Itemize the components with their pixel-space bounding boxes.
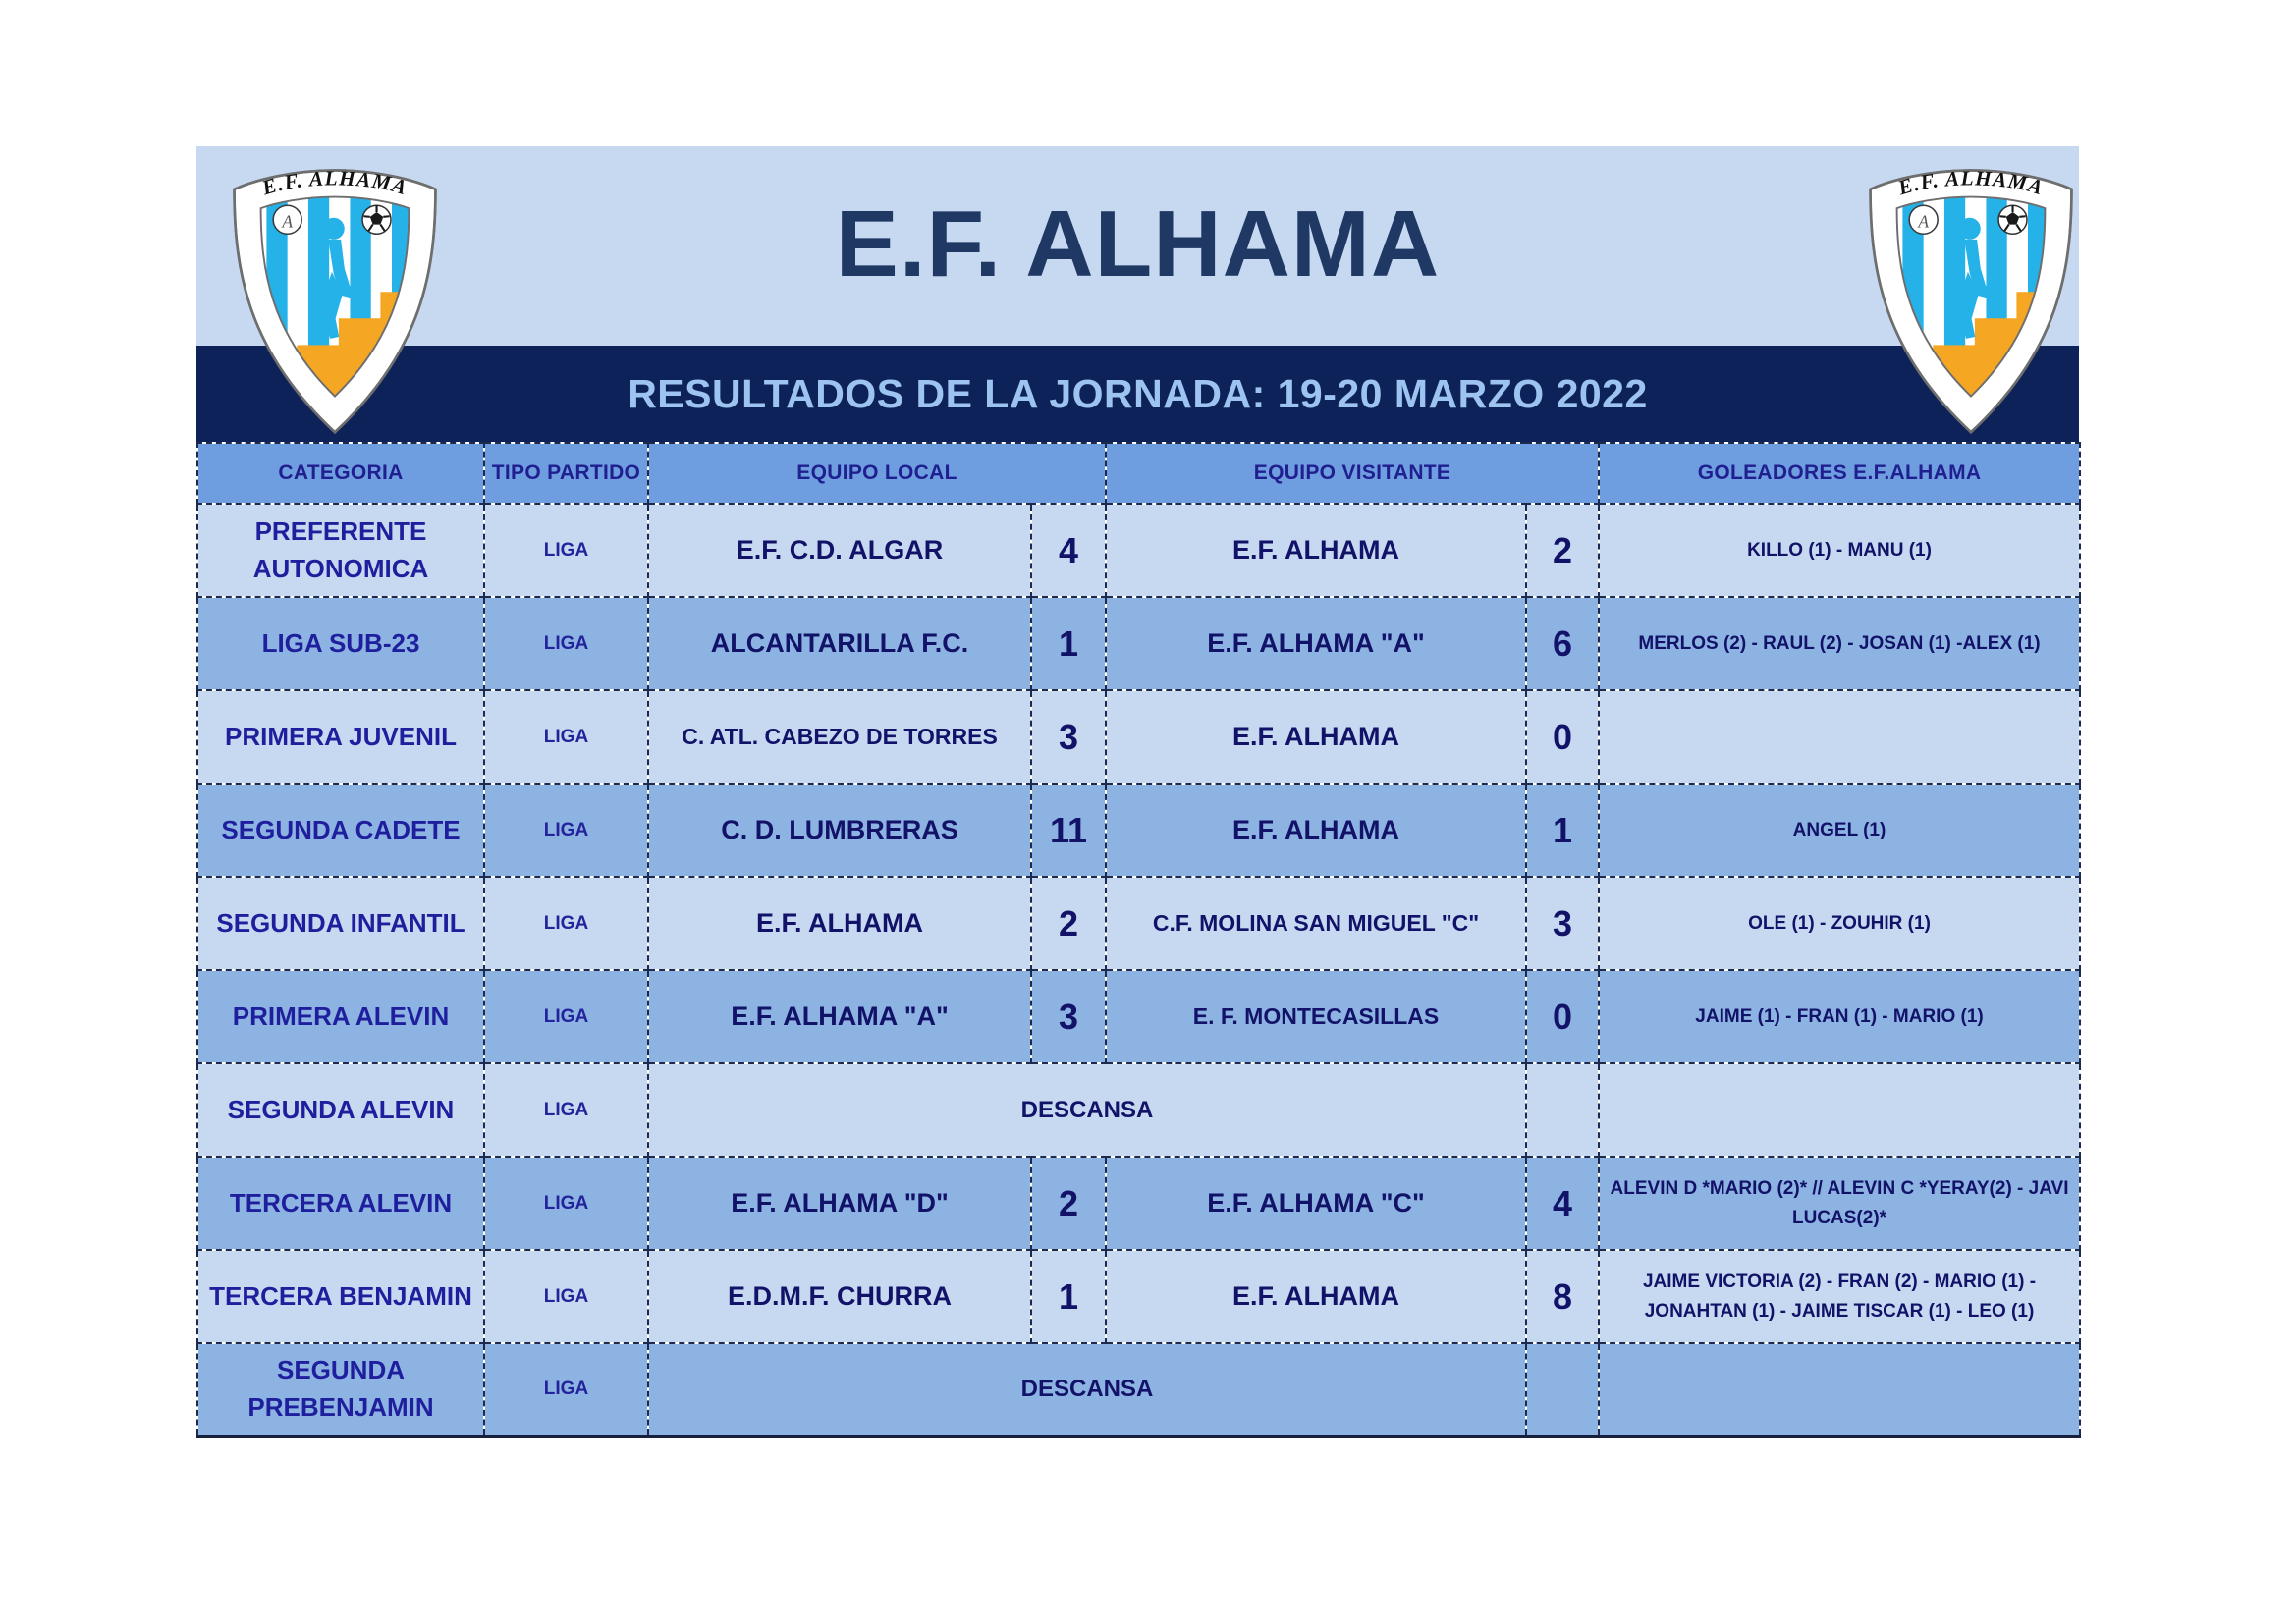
cell-goles-visitante: 0 [1526, 970, 1599, 1063]
cell-categoria: SEGUNDA PREBENJAMIN [197, 1343, 484, 1436]
cell-goleadores [1599, 690, 2080, 784]
svg-text:A: A [281, 211, 293, 231]
table-row: SEGUNDA CADETELIGAC. D. LUMBRERAS11E.F. … [197, 784, 2080, 877]
column-header-tipo-partido: TIPO PARTIDO [484, 443, 648, 504]
cell-categoria: TERCERA BENJAMIN [197, 1250, 484, 1343]
cell-tipo: LIGA [484, 597, 648, 690]
cell-goleadores: ALEVIN D *MARIO (2)* // ALEVIN C *YERAY(… [1599, 1157, 2080, 1250]
cell-goles-local: 1 [1031, 597, 1106, 690]
results-table: CATEGORIA TIPO PARTIDO EQUIPO LOCAL EQUI… [196, 442, 2081, 1438]
cell-equipo-local: C. ATL. CABEZO DE TORRES [648, 690, 1031, 784]
jornada-banner: RESULTADOS DE LA JORNADA: 19-20 MARZO 20… [196, 346, 2079, 442]
cell-equipo-visitante: E.F. ALHAMA "A" [1106, 597, 1526, 690]
cell-tipo: LIGA [484, 1063, 648, 1157]
cell-equipo-visitante: C.F. MOLINA SAN MIGUEL "C" [1106, 877, 1526, 970]
table-row: TERCERA ALEVINLIGAE.F. ALHAMA "D"2E.F. A… [197, 1157, 2080, 1250]
cell-tipo: LIGA [484, 690, 648, 784]
ef-alhama-crest-left: A E.F. ALHAMA [218, 155, 452, 440]
cell-categoria: PRIMERA ALEVIN [197, 970, 484, 1063]
cell-goleadores [1599, 1343, 2080, 1436]
cell-goles-visitante [1526, 1063, 1599, 1157]
table-row: PRIMERA ALEVINLIGAE.F. ALHAMA "A"3E. F. … [197, 970, 2080, 1063]
cell-categoria: SEGUNDA INFANTIL [197, 877, 484, 970]
cell-goles-local: 1 [1031, 1250, 1106, 1343]
column-header-equipo-visitante: EQUIPO VISITANTE [1106, 443, 1599, 504]
table-row: PRIMERA JUVENILLIGAC. ATL. CABEZO DE TOR… [197, 690, 2080, 784]
table-body: PREFERENTE AUTONOMICALIGAE.F. C.D. ALGAR… [197, 504, 2080, 1436]
cell-equipo-local: E.F. C.D. ALGAR [648, 504, 1031, 597]
table-row: SEGUNDA PREBENJAMINLIGADESCANSA [197, 1343, 2080, 1436]
cell-equipo-local: ALCANTARILLA F.C. [648, 597, 1031, 690]
cell-equipo-visitante: E.F. ALHAMA [1106, 784, 1526, 877]
cell-goleadores: KILLO (1) - MANU (1) [1599, 504, 2080, 597]
cell-equipo-visitante: E.F. ALHAMA [1106, 1250, 1526, 1343]
cell-equipo-local: C. D. LUMBRERAS [648, 784, 1031, 877]
cell-categoria: SEGUNDA ALEVIN [197, 1063, 484, 1157]
cell-tipo: LIGA [484, 1157, 648, 1250]
cell-goles-visitante: 2 [1526, 504, 1599, 597]
table-row: LIGA SUB-23LIGAALCANTARILLA F.C.1E.F. AL… [197, 597, 2080, 690]
cell-goles-visitante: 1 [1526, 784, 1599, 877]
cell-goleadores: JAIME VICTORIA (2) - FRAN (2) - MARIO (1… [1599, 1250, 2080, 1343]
header-band: E.F. ALHAMA [196, 146, 2079, 346]
page-title: E.F. ALHAMA [196, 195, 2079, 295]
cell-equipo-visitante: E.F. ALHAMA "C" [1106, 1157, 1526, 1250]
cell-goles-visitante [1526, 1343, 1599, 1436]
cell-tipo: LIGA [484, 970, 648, 1063]
cell-categoria: SEGUNDA CADETE [197, 784, 484, 877]
cell-equipo-local: E.F. ALHAMA "D" [648, 1157, 1031, 1250]
cell-descansa: DESCANSA [648, 1063, 1526, 1157]
cell-equipo-local: E.D.M.F. CHURRA [648, 1250, 1031, 1343]
column-header-equipo-local: EQUIPO LOCAL [648, 443, 1106, 504]
cell-goles-visitante: 0 [1526, 690, 1599, 784]
cell-equipo-local: E.F. ALHAMA [648, 877, 1031, 970]
cell-tipo: LIGA [484, 504, 648, 597]
cell-goles-local: 3 [1031, 690, 1106, 784]
cell-tipo: LIGA [484, 1250, 648, 1343]
table-header-row: CATEGORIA TIPO PARTIDO EQUIPO LOCAL EQUI… [197, 443, 2080, 504]
cell-goles-local: 2 [1031, 1157, 1106, 1250]
cell-tipo: LIGA [484, 1343, 648, 1436]
column-header-categoria: CATEGORIA [197, 443, 484, 504]
cell-goleadores [1599, 1063, 2080, 1157]
cell-categoria: TERCERA ALEVIN [197, 1157, 484, 1250]
table-row: SEGUNDA ALEVINLIGADESCANSA [197, 1063, 2080, 1157]
cell-goleadores: JAIME (1) - FRAN (1) - MARIO (1) [1599, 970, 2080, 1063]
cell-goles-visitante: 6 [1526, 597, 1599, 690]
svg-text:A: A [1917, 211, 1929, 231]
cell-categoria: PREFERENTE AUTONOMICA [197, 504, 484, 597]
cell-goles-visitante: 3 [1526, 877, 1599, 970]
cell-categoria: PRIMERA JUVENIL [197, 690, 484, 784]
cell-equipo-visitante: E. F. MONTECASILLAS [1106, 970, 1526, 1063]
cell-tipo: LIGA [484, 877, 648, 970]
cell-goleadores: ANGEL (1) [1599, 784, 2080, 877]
cell-goleadores: MERLOS (2) - RAUL (2) - JOSAN (1) -ALEX … [1599, 597, 2080, 690]
cell-goles-local: 4 [1031, 504, 1106, 597]
cell-equipo-visitante: E.F. ALHAMA [1106, 690, 1526, 784]
jornada-banner-text: RESULTADOS DE LA JORNADA: 19-20 MARZO 20… [628, 371, 1648, 417]
cell-equipo-local: E.F. ALHAMA "A" [648, 970, 1031, 1063]
cell-equipo-visitante: E.F. ALHAMA [1106, 504, 1526, 597]
cell-categoria: LIGA SUB-23 [197, 597, 484, 690]
cell-descansa: DESCANSA [648, 1343, 1526, 1436]
cell-goleadores: OLE (1) - ZOUHIR (1) [1599, 877, 2080, 970]
results-page: E.F. ALHAMA RESULTADOS DE LA JORNADA: 19… [0, 0, 2296, 1624]
cell-tipo: LIGA [484, 784, 648, 877]
cell-goles-visitante: 8 [1526, 1250, 1599, 1343]
table-row: PREFERENTE AUTONOMICALIGAE.F. C.D. ALGAR… [197, 504, 2080, 597]
cell-goles-local: 2 [1031, 877, 1106, 970]
ef-alhama-crest-right: A E.F. ALHAMA [1854, 155, 2088, 440]
column-header-goleadores: GOLEADORES E.F.ALHAMA [1599, 443, 2080, 504]
cell-goles-local: 3 [1031, 970, 1106, 1063]
table-row: SEGUNDA INFANTILLIGAE.F. ALHAMA2C.F. MOL… [197, 877, 2080, 970]
cell-goles-local: 11 [1031, 784, 1106, 877]
cell-goles-visitante: 4 [1526, 1157, 1599, 1250]
table-row: TERCERA BENJAMINLIGAE.D.M.F. CHURRA1E.F.… [197, 1250, 2080, 1343]
